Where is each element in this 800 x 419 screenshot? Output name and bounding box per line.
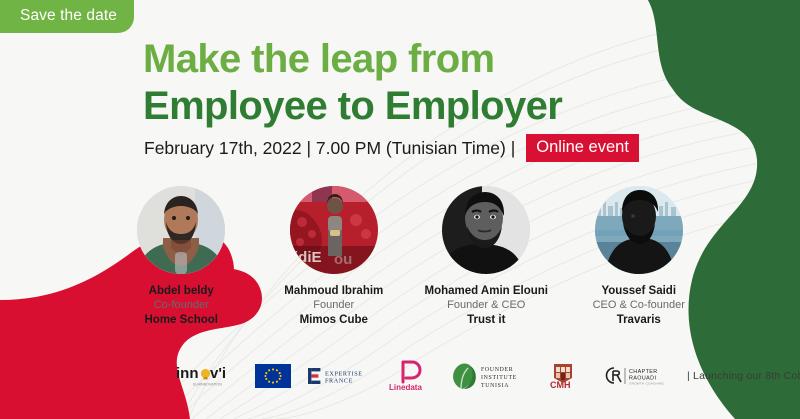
speaker-org: Home School xyxy=(145,313,218,327)
status-badge-online-event: Online event xyxy=(526,134,639,162)
svg-text:INSTITUTE: INSTITUTE xyxy=(481,375,517,381)
speaker-role: Founder xyxy=(313,298,354,312)
speaker-role: Founder & CEO xyxy=(447,298,525,312)
avatar xyxy=(137,186,225,274)
svg-text:EU4INNOVATION: EU4INNOVATION xyxy=(193,383,222,387)
eu-flag-icon xyxy=(255,364,291,388)
save-the-date-tag: Save the date xyxy=(0,0,134,33)
expertise-france-logo-icon: EXPERTISE FRANCE xyxy=(308,365,370,387)
logo-expertise-france: EXPERTISE FRANCE xyxy=(308,365,370,387)
avatar xyxy=(595,186,683,274)
partner-logo-bar: inn v'i EU4INNOVATION xyxy=(176,360,800,392)
speaker-org: Mimos Cube xyxy=(300,313,368,327)
portrait-man-green-sweater-image xyxy=(137,186,225,274)
headline-line-1: Make the leap from xyxy=(143,38,562,81)
svg-text:idiE: idiE xyxy=(294,249,322,266)
svg-text:inn: inn xyxy=(176,365,199,382)
svg-text:Linedata: Linedata xyxy=(389,383,422,392)
cmh-logo-icon: CMH xyxy=(543,360,583,392)
logo-cmh: CMH xyxy=(543,360,583,392)
speaker-name: Abdel beldy xyxy=(149,284,214,298)
logo-eu-flag xyxy=(255,364,291,388)
event-banner: Save the date Make the leap from Employe… xyxy=(0,0,800,419)
svg-text:FOUNDER: FOUNDER xyxy=(481,367,513,373)
speaker-card: idiE ou Mahmoud Ibrahim Founder Mimos Cu… xyxy=(258,186,411,327)
page-title: Make the leap from Employee to Employer xyxy=(143,38,562,128)
avatar: idiE ou xyxy=(290,186,378,274)
svg-text:CHAPTER: CHAPTER xyxy=(629,369,658,375)
svg-text:FRANCE: FRANCE xyxy=(325,378,353,385)
logo-founder-institute-tunisia: FOUNDER INSTITUTE TUNISIA xyxy=(448,361,526,391)
chapter-raouadi-logo-icon: CHAPTER RAOUADI GROWTH COACHING xyxy=(600,364,666,388)
linedata-logo-icon: Linedata xyxy=(387,360,431,392)
speaker-card: Abdel beldy Co-founder Home School xyxy=(105,186,258,327)
innovi-logo-icon: inn v'i EU4INNOVATION xyxy=(176,363,238,389)
speaker-org: Trust it xyxy=(467,313,505,327)
speaker-card: Mohamed Amin Elouni Founder & CEO Trust … xyxy=(410,186,563,327)
svg-text:EXPERTISE: EXPERTISE xyxy=(325,371,363,378)
svg-text:v'i: v'i xyxy=(210,365,226,382)
speaker-role: CEO & Co-founder xyxy=(593,298,685,312)
logo-innovi: inn v'i EU4INNOVATION xyxy=(176,363,238,389)
svg-text:TUNISIA: TUNISIA xyxy=(481,383,509,389)
headline-line-2: Employee to Employer xyxy=(143,85,562,128)
logo-chapter-raouadi: CHAPTER RAOUADI GROWTH COACHING xyxy=(600,364,666,388)
portrait-man-seaside-skyline-image xyxy=(595,186,683,274)
founder-institute-logo-icon: FOUNDER INSTITUTE TUNISIA xyxy=(448,361,526,391)
cohort-text: | Launching our 8th Cohort xyxy=(687,370,800,382)
svg-text:GROWTH COACHING: GROWTH COACHING xyxy=(629,382,665,386)
speaker-name: Youssef Saidi xyxy=(601,284,676,298)
portrait-man-black-and-white-image xyxy=(442,186,530,274)
speaker-role: Co-founder xyxy=(154,298,209,312)
speaker-name: Mahmoud Ibrahim xyxy=(284,284,383,298)
portrait-man-on-red-stage-image: idiE ou xyxy=(290,186,378,274)
speaker-name: Mohamed Amin Elouni xyxy=(424,284,548,298)
speaker-card: Youssef Saidi CEO & Co-founder Travaris xyxy=(563,186,716,327)
avatar xyxy=(442,186,530,274)
svg-text:CMH: CMH xyxy=(550,380,571,390)
speaker-list: Abdel beldy Co-founder Home School i xyxy=(105,186,715,327)
speaker-org: Travaris xyxy=(617,313,661,327)
logo-linedata: Linedata xyxy=(387,360,431,392)
event-datetime: February 17th, 2022 | 7.00 PM (Tunisian … xyxy=(144,138,515,159)
event-datetime-row: February 17th, 2022 | 7.00 PM (Tunisian … xyxy=(144,134,639,162)
